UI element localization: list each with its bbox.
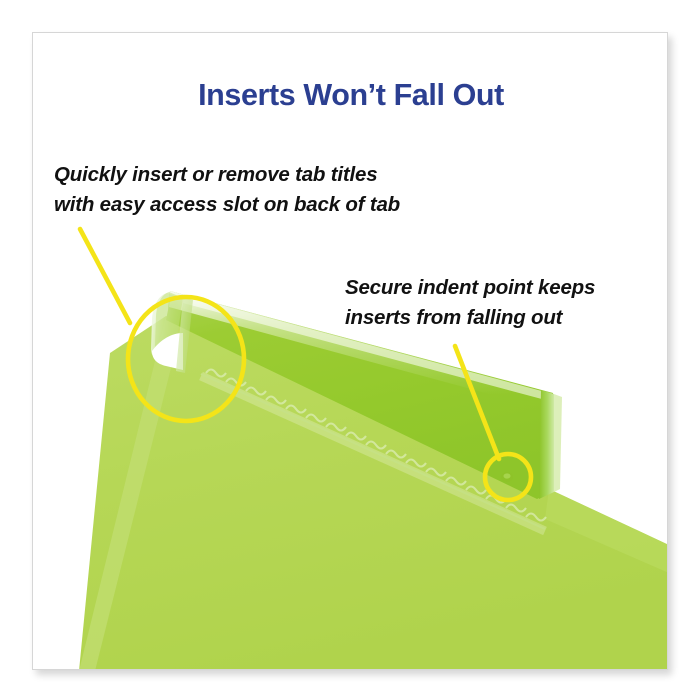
- callout-text-access-slot-line2: with easy access slot on back of tab: [54, 190, 400, 220]
- product-photo: [33, 33, 668, 670]
- divider-tab-right-edge: [539, 390, 554, 499]
- divider-tab-right-edge-highlight: [554, 394, 562, 492]
- callout-text-access-slot: Quickly insert or remove tab titles with…: [54, 160, 400, 219]
- product-photo-illustration: [33, 33, 668, 670]
- screenshot-canvas: Inserts Won’t Fall Out Quickly insert or…: [0, 0, 700, 700]
- callout-text-access-slot-line1: Quickly insert or remove tab titles: [54, 160, 400, 190]
- page-title: Inserts Won’t Fall Out: [33, 79, 668, 111]
- callout-text-indent-point-line2: inserts from falling out: [345, 303, 595, 333]
- product-feature-card: Inserts Won’t Fall Out Quickly insert or…: [32, 32, 668, 670]
- callout-text-indent-point: Secure indent point keeps inserts from f…: [345, 273, 595, 332]
- secure-indent-point-highlight: [504, 473, 511, 478]
- callout-text-indent-point-line1: Secure indent point keeps: [345, 273, 595, 303]
